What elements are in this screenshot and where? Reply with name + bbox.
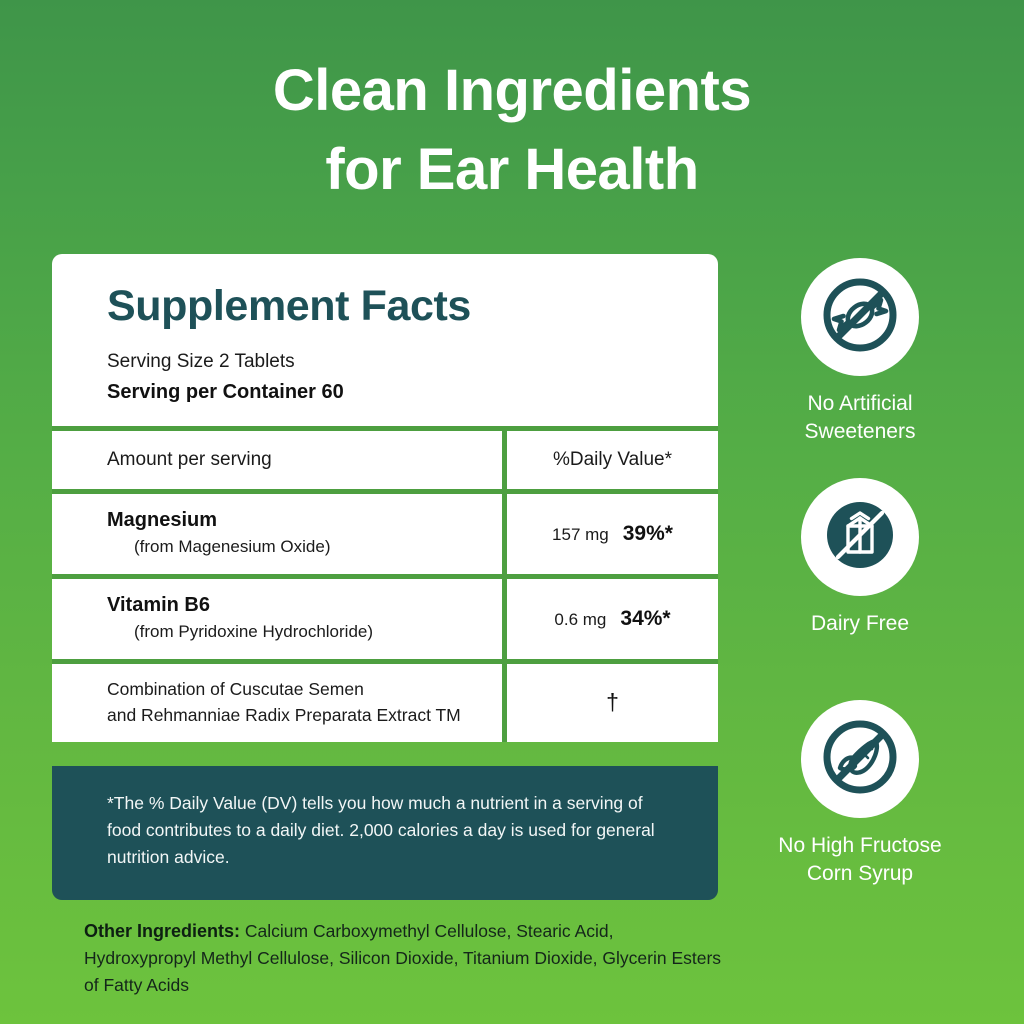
badge-label-line-1: No Artificial <box>807 392 912 415</box>
nutrient-name-cell: Magnesium (from Magenesium Oxide) <box>52 494 502 574</box>
nutrient-name-cell: Vitamin B6 (from Pyridoxine Hydrochlorid… <box>52 579 502 659</box>
no-high-fructose-corn-syrup-icon <box>817 714 903 805</box>
dagger-symbol: † <box>606 689 619 716</box>
badge-label: No Artificial Sweeteners <box>738 390 982 445</box>
dairy-free-icon <box>817 492 903 583</box>
table-row: Vitamin B6 (from Pyridoxine Hydrochlorid… <box>52 579 718 659</box>
table-header-row: Amount per serving %Daily Value* <box>52 431 718 489</box>
daily-value-footnote: *The % Daily Value (DV) tells you how mu… <box>52 766 718 900</box>
badge-label-line-1: Dairy Free <box>811 612 909 635</box>
supplement-facts-card: Supplement Facts Serving Size 2 Tablets … <box>52 254 718 742</box>
badge-label: Dairy Free <box>738 610 982 638</box>
other-ingredients-label: Other Ingredients: <box>84 921 240 941</box>
daily-value-label: %Daily Value* <box>553 449 672 471</box>
badge-circle <box>801 478 919 596</box>
nutrient-value-cell: 0.6 mg 34%* <box>507 579 718 659</box>
table-row: Magnesium (from Magenesium Oxide) 157 mg… <box>52 494 718 574</box>
serving-size-text: Serving Size 2 Tablets <box>107 347 718 376</box>
amount-per-serving-label: Amount per serving <box>107 449 488 471</box>
badge-label: No High Fructose Corn Syrup <box>738 832 982 887</box>
table-header-amount-cell: Amount per serving <box>52 431 502 489</box>
badge-label-line-1: No High Fructose <box>778 834 941 857</box>
blend-line-1: Combination of Cuscutae Semen <box>107 677 488 702</box>
supplement-facts-header: Supplement Facts Serving Size 2 Tablets … <box>52 254 718 426</box>
badge-circle <box>801 258 919 376</box>
serving-per-container-text: Serving per Container 60 <box>107 377 718 408</box>
headline-line-1: Clean Ingredients <box>0 52 1024 131</box>
badge-no-high-fructose-corn-syrup: No High Fructose Corn Syrup <box>738 700 982 887</box>
badge-label-line-2: Sweeteners <box>805 420 916 443</box>
other-ingredients: Other Ingredients: Calcium Carboxymethyl… <box>84 918 724 999</box>
nutrient-name: Magnesium <box>107 508 488 533</box>
supplement-facts-table: Amount per serving %Daily Value* Magnesi… <box>52 426 718 742</box>
badge-no-artificial-sweeteners: No Artificial Sweeteners <box>738 258 982 445</box>
nutrient-source: (from Pyridoxine Hydrochloride) <box>107 621 488 644</box>
table-header-dv-cell: %Daily Value* <box>507 431 718 489</box>
blend-line-2: and Rehmanniae Radix Preparata Extract T… <box>107 703 488 728</box>
nutrient-value-cell: 157 mg 39%* <box>507 494 718 574</box>
table-row: Combination of Cuscutae Semen and Rehman… <box>52 664 718 742</box>
nutrient-source: (from Magenesium Oxide) <box>107 536 488 559</box>
nutrient-daily-value: 39%* <box>623 522 673 546</box>
nutrient-name: Vitamin B6 <box>107 593 488 618</box>
supplement-facts-title: Supplement Facts <box>107 284 718 329</box>
badge-label-line-2: Corn Syrup <box>807 862 913 885</box>
headline-line-2: for Ear Health <box>0 131 1024 210</box>
blend-value-cell: † <box>507 664 718 742</box>
badge-dairy-free: Dairy Free <box>738 478 982 638</box>
blend-name-cell: Combination of Cuscutae Semen and Rehman… <box>52 664 502 742</box>
no-artificial-sweeteners-icon <box>817 272 903 363</box>
page-title: Clean Ingredients for Ear Health <box>0 52 1024 210</box>
nutrient-amount: 157 mg <box>552 525 609 545</box>
nutrient-daily-value: 34%* <box>620 607 670 631</box>
badge-circle <box>801 700 919 818</box>
nutrient-amount: 0.6 mg <box>554 610 606 630</box>
